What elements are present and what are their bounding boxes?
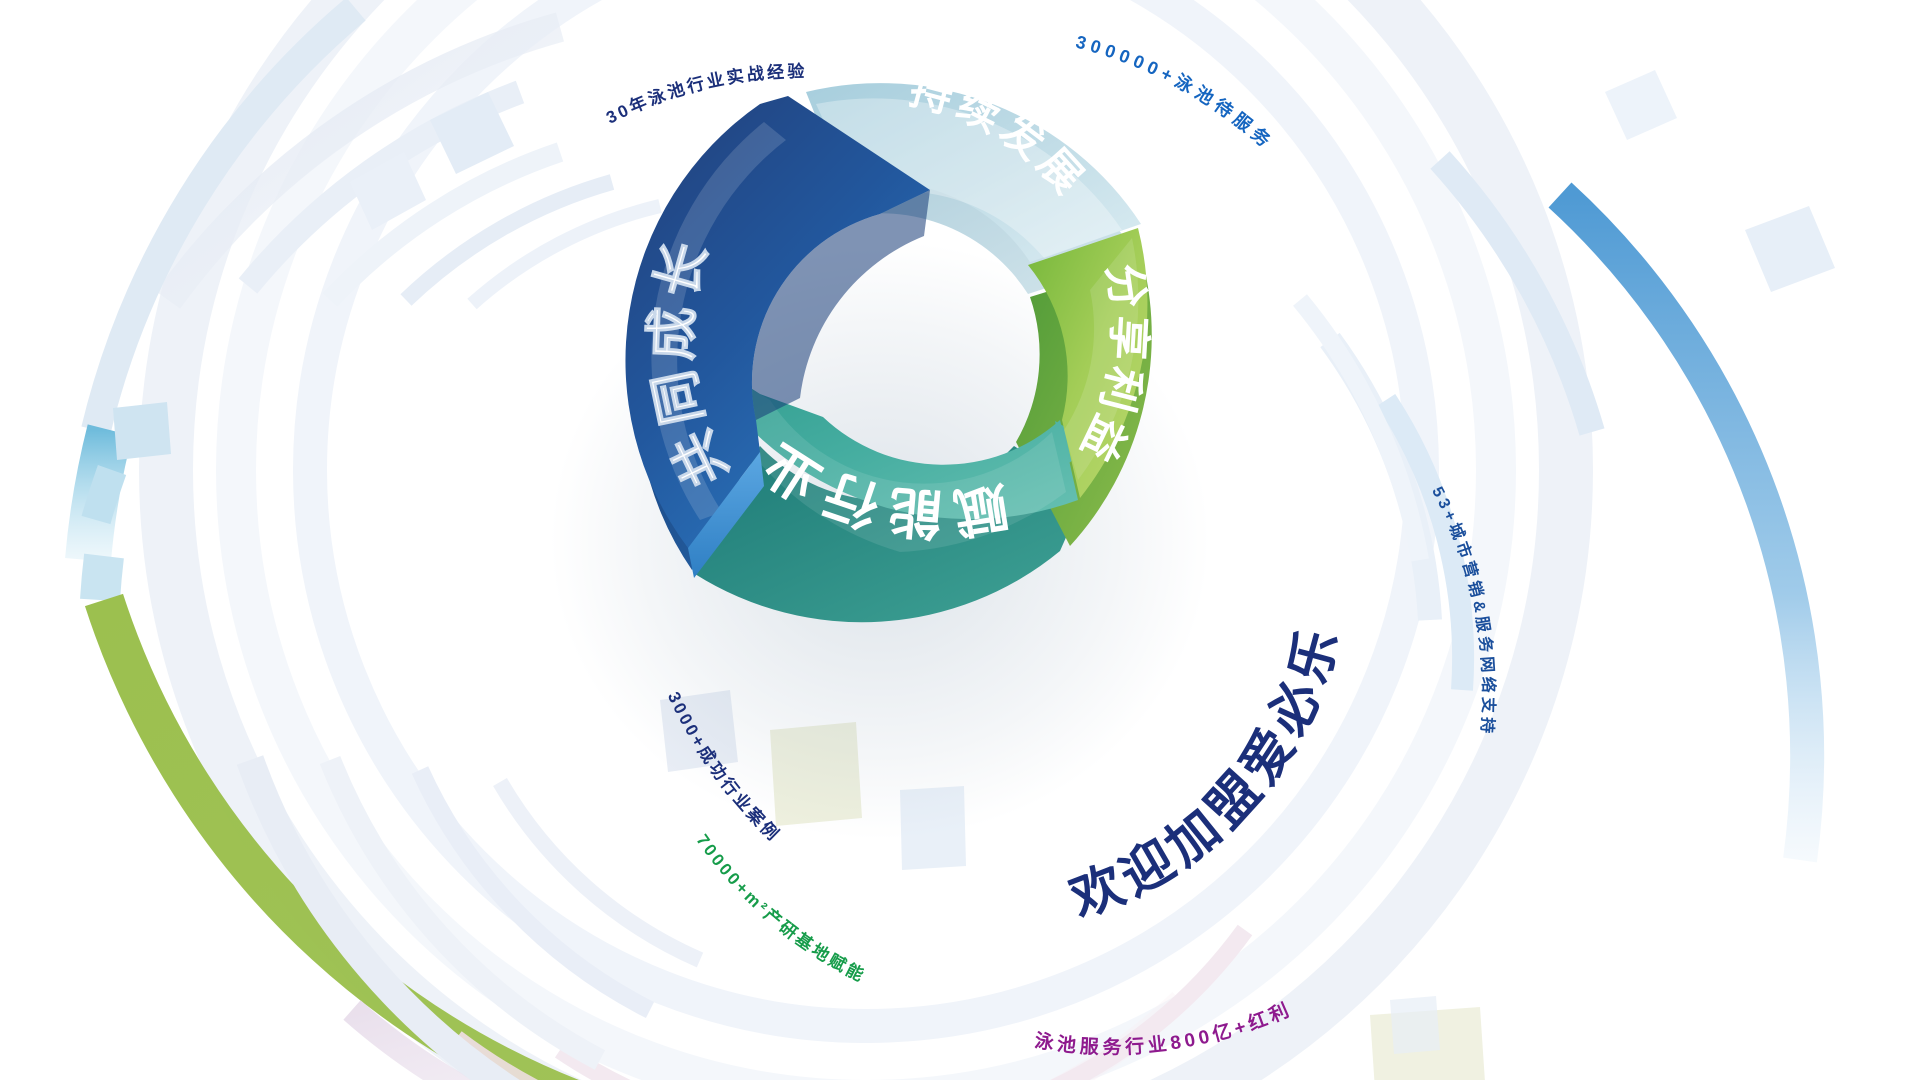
stat-label-rnd-base: 70000+m²产研基地赋能: [692, 831, 869, 986]
poster-canvas: 共同成长 持续发展 分享利益 赋能行业 30年泳池行业实战经验 300000+泳…: [0, 0, 1920, 1080]
poster-artwork: 共同成长 持续发展 分享利益 赋能行业 30年泳池行业实战经验 300000+泳…: [0, 0, 1920, 1080]
